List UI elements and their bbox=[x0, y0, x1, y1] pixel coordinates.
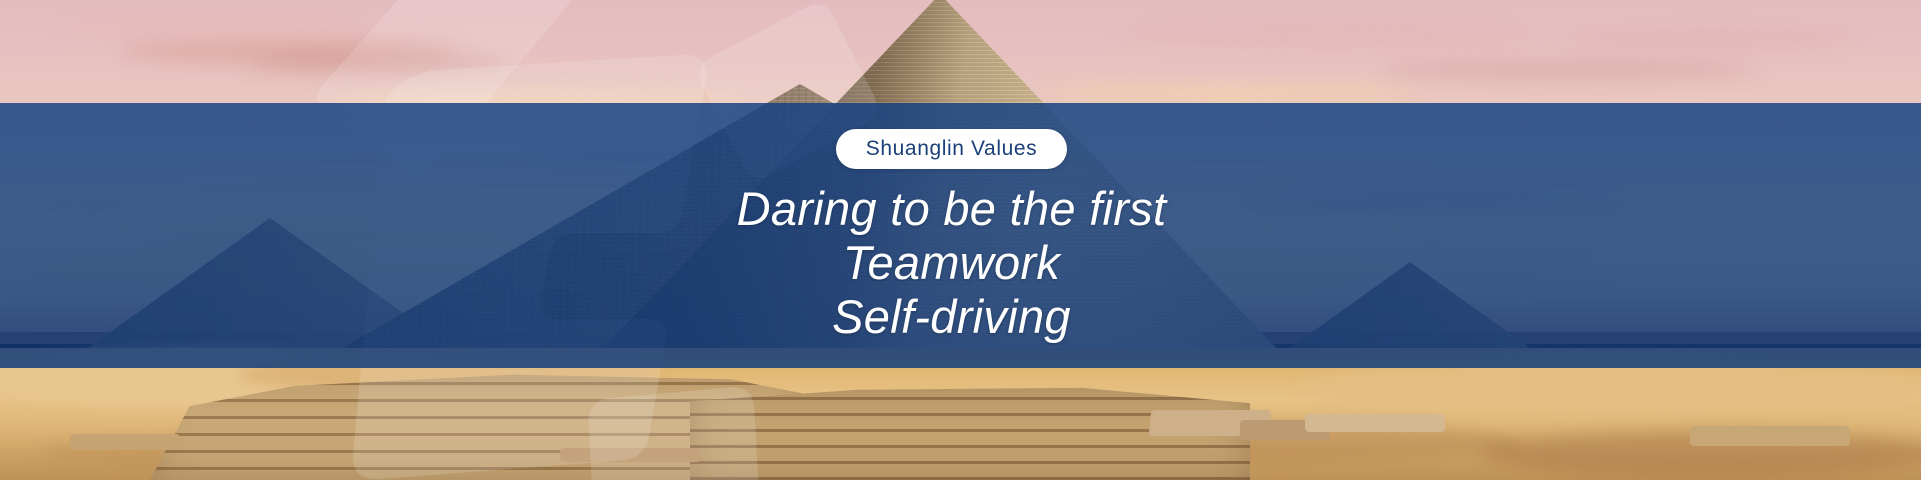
values-hero-banner: Shuanglin Values Daring to be the first … bbox=[0, 0, 1921, 480]
rubble-stone bbox=[1240, 420, 1330, 440]
rubble-stone bbox=[1305, 414, 1445, 432]
headline-line-3: Self-driving bbox=[737, 290, 1167, 344]
pyramid-stone-base bbox=[690, 384, 1250, 480]
headline-line-2: Teamwork bbox=[737, 236, 1167, 290]
sand-dune bbox=[1300, 360, 1921, 414]
banner-content: Shuanglin Values Daring to be the first … bbox=[0, 103, 1911, 368]
values-badge[interactable]: Shuanglin Values bbox=[836, 129, 1068, 169]
rubble-stone bbox=[1690, 426, 1850, 446]
headline-block: Daring to be the first Teamwork Self-dri… bbox=[737, 182, 1167, 344]
rubble-stone bbox=[70, 434, 180, 450]
sand-dune bbox=[1480, 430, 1921, 476]
headline-line-1: Daring to be the first bbox=[737, 182, 1167, 236]
